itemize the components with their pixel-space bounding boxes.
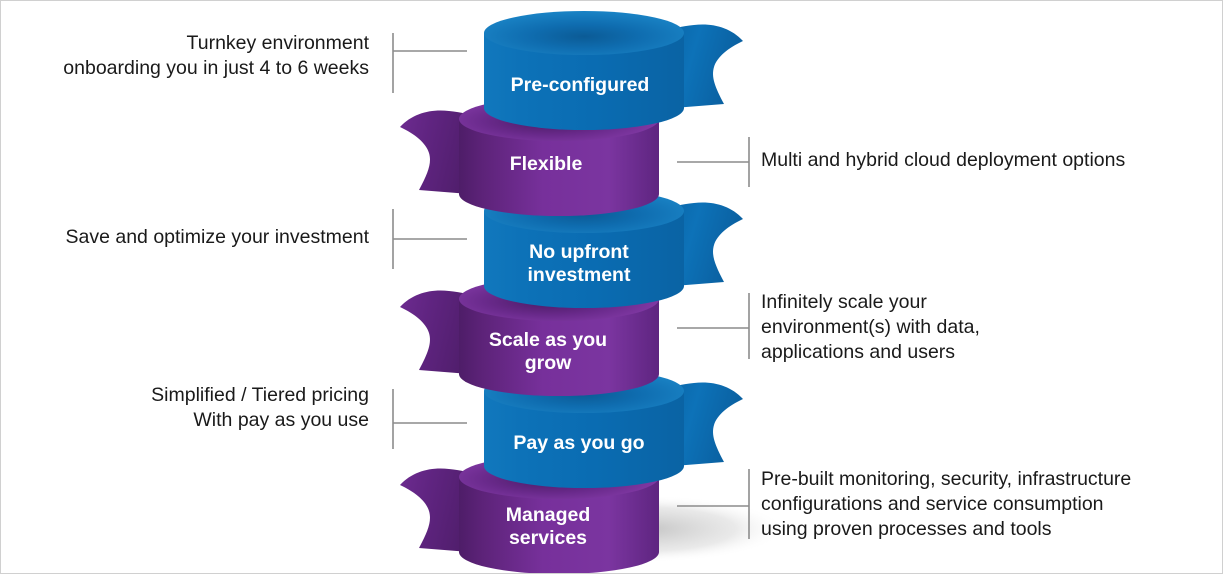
layer-pre-configured[interactable]	[484, 11, 743, 130]
connector-lines-right	[677, 137, 749, 539]
band-label-flexible: Flexible	[510, 153, 583, 175]
band-label-managed-services: Managedservices	[506, 504, 591, 549]
cylinder-top-pre-configured	[484, 11, 684, 55]
band-label-pay-as-you-go: Pay as you go	[513, 432, 644, 454]
callout-managed-services: Pre-built monitoring, security, infrastr…	[761, 467, 1201, 542]
connector-lines-left	[393, 33, 467, 449]
connector-no-upfront-investment	[393, 209, 467, 269]
connector-pre-configured	[393, 33, 467, 93]
connector-scale-as-you-grow	[677, 293, 749, 359]
band-label-no-upfront-investment: No upfrontinvestment	[528, 241, 631, 286]
callout-pre-configured: Turnkey environment onboarding you in ju…	[39, 31, 369, 81]
diagram-canvas: Pre-configured Flexible No upfrontinvest…	[0, 0, 1223, 574]
callout-pay-as-you-go: Simplified / Tiered pricing With pay as …	[39, 383, 369, 433]
connector-pay-as-you-go	[393, 389, 467, 449]
callout-no-upfront-investment: Save and optimize your investment	[39, 225, 369, 250]
callout-scale-as-you-grow: Infinitely scale your environment(s) wit…	[761, 290, 1181, 365]
connector-flexible	[677, 137, 749, 187]
callout-flexible: Multi and hybrid cloud deployment option…	[761, 148, 1181, 173]
band-label-pre-configured: Pre-configured	[511, 74, 650, 96]
